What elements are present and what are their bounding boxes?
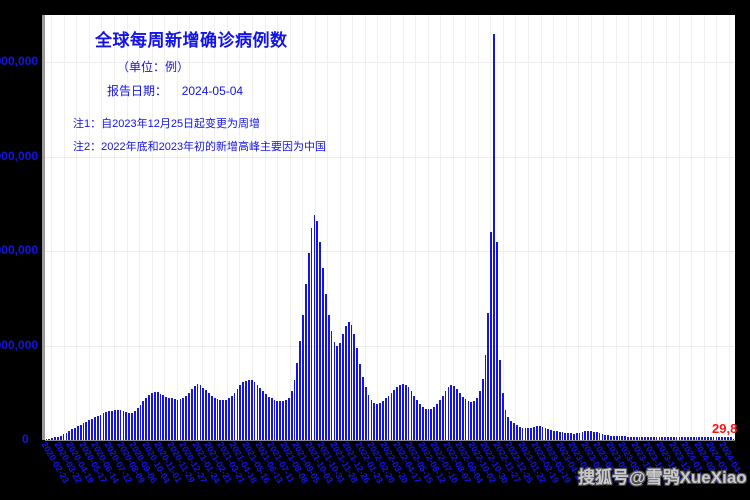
bar [194,386,196,440]
bar [114,410,116,440]
bar [154,392,156,440]
bar [362,377,364,440]
bar [134,411,136,440]
bar [242,382,244,440]
bar [188,393,190,440]
bar [391,393,393,440]
bar [559,432,561,440]
bar [205,390,207,440]
bar [450,385,452,440]
bar [359,364,361,441]
bar [339,343,341,440]
bar [319,242,321,440]
bar [251,380,253,440]
bar [373,403,375,440]
bar [165,397,167,440]
bar [316,221,318,440]
bar [111,411,113,440]
bar [436,404,438,440]
bar [85,422,87,440]
bar [174,399,176,440]
bar [314,215,316,440]
bar [162,395,164,440]
bar [388,396,390,440]
bar [408,387,410,440]
bar [211,396,213,440]
bar [550,430,552,440]
bar [396,387,398,440]
bar [599,433,601,440]
bar [430,409,432,440]
bar [171,398,173,440]
bar [334,342,336,440]
bar [80,425,82,440]
bar [308,253,310,440]
bar [462,397,464,440]
bar [405,385,407,440]
bar [145,398,147,441]
bar [197,384,199,440]
bar [428,409,430,440]
bar [519,427,521,440]
bar [302,315,304,440]
bar [553,431,555,440]
bar [148,395,150,440]
bar [105,412,107,440]
bar [456,389,458,440]
bar [331,331,333,440]
bar [379,403,381,440]
bar [419,404,421,440]
bar [299,341,301,440]
bar [77,426,79,440]
bar [499,360,501,440]
bar [536,426,538,440]
bar [433,407,435,440]
y-axis-line [42,15,45,440]
bar [248,380,250,440]
bar [237,389,239,440]
bar [439,400,441,440]
bar [527,428,529,440]
bar [422,407,424,440]
bar [516,425,518,440]
bar [376,404,378,440]
bar [103,413,105,440]
bar [485,355,487,440]
bar [214,398,216,441]
bar [245,381,247,441]
bar [556,431,558,440]
bar [157,392,159,440]
bar [177,400,179,440]
bar [305,284,307,440]
y-tick-label: 30,000,000 [0,149,38,163]
bar [328,315,330,440]
bar [448,387,450,440]
bar [231,396,233,440]
bar [399,385,401,440]
bar [413,396,415,440]
bar [291,391,293,440]
bar [228,398,230,440]
bar [545,428,547,440]
bar [505,410,507,440]
bar [268,397,270,440]
bar [128,413,130,440]
bar [137,408,139,440]
bar [473,401,475,440]
bar [125,412,127,440]
bar [91,419,93,440]
bar [257,385,259,440]
bar [547,429,549,440]
bar [160,394,162,440]
bar [142,401,144,440]
bar [382,401,384,440]
plot-area [45,15,735,440]
bar [590,431,592,440]
bar [294,380,296,440]
bar [567,433,569,440]
bar [542,427,544,440]
bar [596,432,598,440]
bar [493,34,495,440]
bar [342,334,344,440]
bar [562,432,564,440]
bar [140,405,142,440]
bar [180,399,182,440]
bar [225,400,227,440]
bar [445,391,447,440]
bar [479,391,481,440]
bar [368,395,370,440]
bar [259,388,261,440]
bar [336,346,338,440]
bar [496,242,498,440]
bar [88,420,90,440]
bar [182,398,184,440]
bar [74,428,76,440]
bar [442,396,444,440]
bar [487,313,489,441]
bar [288,398,290,441]
bar [271,398,273,440]
bar [108,411,110,440]
bar [265,394,267,440]
bar [533,427,535,440]
bar [353,334,355,440]
bar [279,401,281,440]
y-tick-label: 40,000,000 [0,54,38,68]
bar [97,416,99,440]
bar [239,385,241,440]
bar [217,399,219,440]
bar [576,433,578,440]
bar [282,401,284,440]
bar [296,363,298,440]
bar [325,294,327,440]
last-value-annotation: 29,8 [712,421,737,436]
bar [71,429,73,440]
bar [587,431,589,440]
bar-series [45,15,735,440]
bar [100,415,102,441]
y-tick-label: 10,000,000 [0,338,38,352]
bar [468,401,470,440]
bar [510,421,512,440]
bar [371,400,373,440]
bar [285,400,287,440]
bar [507,417,509,440]
bar [219,400,221,440]
bar [593,432,595,441]
bar [200,385,202,440]
bar [411,391,413,440]
bar [453,386,455,440]
bar [356,348,358,440]
bar [254,382,256,440]
bar [584,431,586,440]
y-tick-label: 20,000,000 [0,243,38,257]
bar [564,433,566,440]
bar [311,228,313,441]
bar [476,398,478,441]
chart-root: 40,000,00030,000,00020,000,00010,000,000… [0,0,750,500]
bar [123,411,125,440]
bar [66,433,68,440]
bar [262,391,264,440]
bar [131,413,133,440]
bar [525,428,527,440]
bar [402,384,404,440]
bar [351,325,353,440]
bar [222,400,224,440]
bar [94,417,96,440]
bar [348,322,350,440]
bar [522,428,524,440]
bar [274,400,276,440]
bar [345,326,347,440]
bar [539,426,541,440]
bar [570,433,572,440]
bar [416,400,418,440]
bar [185,396,187,440]
bar [68,431,70,440]
bar [482,379,484,440]
bar [470,402,472,440]
bar [490,232,492,440]
bar [393,390,395,440]
bar [168,398,170,441]
bar [425,409,427,440]
bar [459,393,461,440]
bar [322,268,324,440]
bar [530,428,532,440]
bar [582,432,584,440]
bar [579,433,581,440]
bar [502,393,504,440]
bar [276,401,278,440]
bar [202,388,204,440]
bar [208,393,210,440]
bar [465,399,467,440]
bar [191,389,193,440]
bar [365,387,367,440]
bar [385,398,387,440]
bar [513,423,515,440]
bar [120,410,122,440]
watermark: 搜狐号@雪鸮XueXiao [578,463,747,488]
bar [83,423,85,440]
bar [234,393,236,440]
bar [151,393,153,440]
bar [117,410,119,440]
